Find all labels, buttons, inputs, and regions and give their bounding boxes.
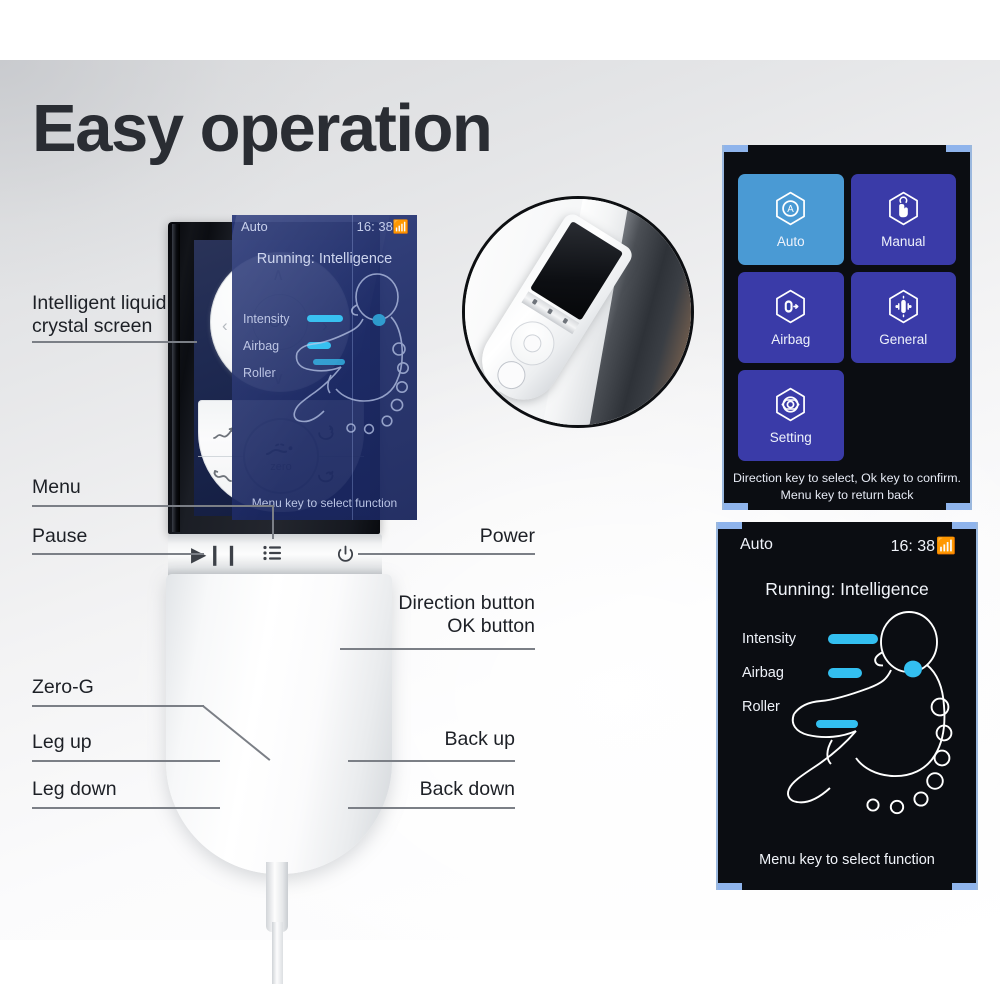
mode-tile-grid: AAutoManualAirbagGeneralSetting	[738, 174, 956, 461]
callout-power: Power	[400, 525, 535, 548]
running-footer-hint: Menu key to select function	[716, 852, 978, 868]
panel-edge-right	[976, 522, 978, 890]
power-icon[interactable]	[336, 545, 355, 568]
bottom-white-band	[0, 940, 1000, 1000]
leader-line-leg-up	[32, 760, 220, 762]
leg-up-icon[interactable]	[212, 425, 234, 446]
running-program-title: Running: Intelligence	[716, 579, 978, 600]
mode-tile-label: General	[879, 332, 927, 347]
panel-corner-marker-br	[952, 883, 978, 890]
panel-corner-marker-tr	[952, 522, 978, 529]
leader-line-zero-g	[32, 705, 204, 707]
remote-photo-inset	[462, 196, 694, 428]
panel-corner-marker-tl	[716, 522, 742, 529]
hexagon-airbag-icon	[772, 288, 809, 325]
mode-tile-general[interactable]: General	[851, 272, 957, 363]
callout-zero-g: Zero-G	[32, 676, 94, 699]
leg-down-icon[interactable]	[212, 468, 234, 489]
running-status-bar: Auto 16: 38📶	[716, 536, 978, 562]
svg-text:A: A	[787, 204, 794, 215]
page-title: Easy operation	[32, 95, 491, 162]
hexagon-gear-icon	[772, 386, 809, 423]
mode-tile-auto[interactable]: AAuto	[738, 174, 844, 265]
hexagon-auto-icon: A	[772, 190, 809, 227]
running-time: 16: 38	[891, 538, 935, 555]
leader-line-back-down	[348, 807, 515, 809]
leader-line-power	[358, 553, 535, 555]
panel-edge-left	[722, 145, 724, 510]
top-white-band	[0, 0, 1000, 60]
mode-tile-manual[interactable]: Manual	[851, 174, 957, 265]
poster-canvas: Easy operation ▶❙❙ OK ∧ ∨ ‹ ›	[0, 0, 1000, 1000]
remote-bezel-edge	[172, 224, 180, 532]
seated-body-figure	[744, 610, 974, 820]
play-pause-icon[interactable]: ▶❙❙	[191, 545, 240, 565]
menu-hint-text: Direction key to select, Ok key to confi…	[732, 470, 962, 503]
panel-corner-marker-tr	[946, 145, 972, 152]
callout-leg-down: Leg down	[32, 778, 117, 801]
menu-screen-panel: AAutoManualAirbagGeneralSetting Directio…	[722, 145, 972, 510]
bluetooth-icon: 📶	[936, 538, 956, 555]
mode-tile-label: Airbag	[771, 332, 810, 347]
mode-tile-label: Setting	[770, 430, 812, 445]
leader-line-direction-ok	[340, 648, 535, 650]
leader-line-back-up	[348, 760, 515, 762]
mode-tile-setting[interactable]: Setting	[738, 370, 844, 461]
panel-edge-left	[716, 522, 718, 890]
leader-line-lcd	[32, 341, 197, 343]
panel-corner-marker-bl	[722, 503, 748, 510]
mode-tile-label: Auto	[777, 234, 805, 249]
dpad-left-icon[interactable]: ‹	[222, 317, 228, 334]
leader-line-leg-down	[32, 807, 220, 809]
running-screen-panel: Auto 16: 38📶 Running: Intelligence Inten…	[716, 522, 978, 890]
leader-line-menu-vert	[272, 505, 274, 539]
callout-lcd-screen: Intelligent liquid crystal screen	[32, 292, 166, 338]
leader-line-pause	[32, 553, 204, 555]
panel-corner-marker-bl	[716, 883, 742, 890]
panel-edge-right	[970, 145, 972, 510]
running-time-group: 16: 38📶	[891, 536, 956, 556]
callout-direction-ok: Direction button OK button	[370, 592, 535, 638]
lcd-screen-overlay: Auto 16: 38📶 Running: Intelligence Inten…	[232, 215, 417, 520]
menu-list-icon[interactable]	[263, 545, 283, 567]
callout-menu: Menu	[32, 476, 81, 499]
remote-body	[166, 574, 392, 874]
hexagon-general-icon	[885, 288, 922, 325]
callout-leg-up: Leg up	[32, 731, 92, 754]
mode-tile-label: Manual	[881, 234, 925, 249]
hexagon-hand-icon	[885, 190, 922, 227]
running-mode-label: Auto	[740, 536, 773, 554]
leader-line-menu	[32, 505, 272, 507]
mode-tile-airbag[interactable]: Airbag	[738, 272, 844, 363]
callout-back-up: Back up	[375, 728, 515, 751]
remote-cord	[272, 922, 283, 984]
callout-back-down: Back down	[355, 778, 515, 801]
panel-corner-marker-br	[946, 503, 972, 510]
panel-corner-marker-tl	[722, 145, 748, 152]
callout-pause: Pause	[32, 525, 87, 548]
bluetooth-icon: 📶	[393, 219, 409, 234]
